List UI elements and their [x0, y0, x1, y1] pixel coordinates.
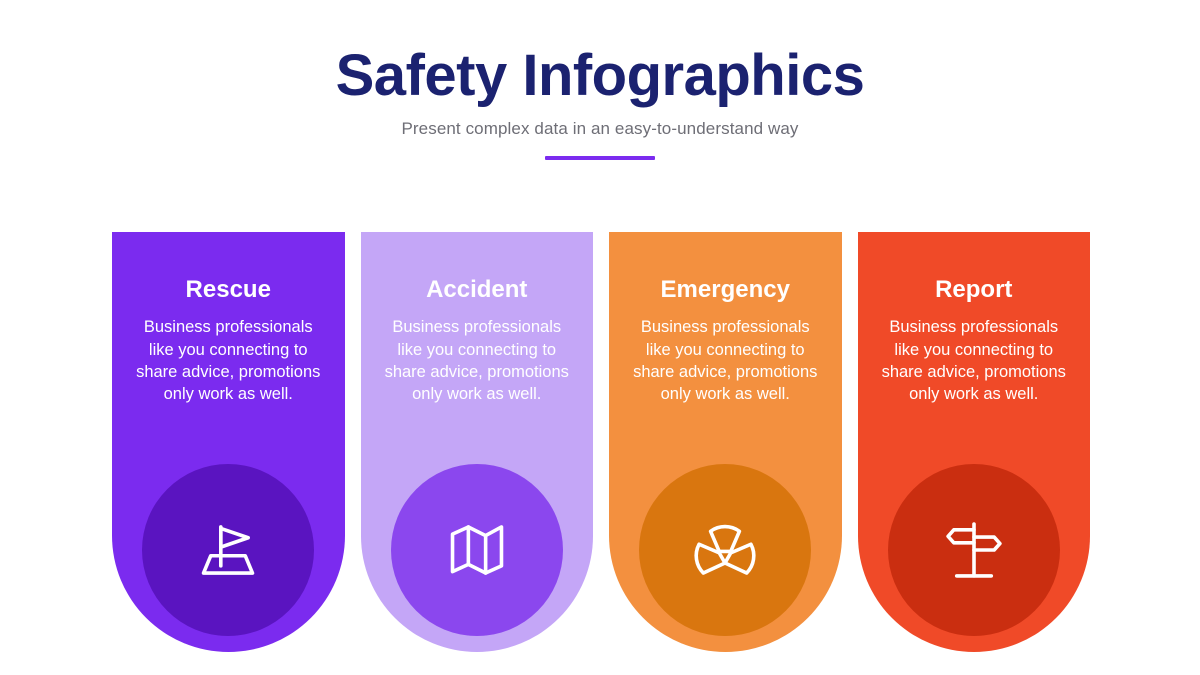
header: Safety Infographics Present complex data…: [0, 44, 1200, 160]
card-report[interactable]: Report Business professionals like you c…: [858, 232, 1091, 652]
cards-row: Rescue Business professionals like you c…: [112, 232, 1090, 652]
card-rescue[interactable]: Rescue Business professionals like you c…: [112, 232, 345, 652]
signpost-icon: [938, 514, 1010, 586]
icon-circle: [142, 464, 314, 636]
folded-map-icon: [441, 514, 513, 586]
card-body-text: Business professionals like you connecti…: [132, 316, 324, 404]
card-emergency[interactable]: Emergency Business professionals like yo…: [609, 232, 842, 652]
card-body-text: Business professionals like you connecti…: [878, 316, 1070, 404]
flag-on-base-icon: [192, 514, 264, 586]
card-title: Accident: [426, 277, 527, 303]
card-body-text: Business professionals like you connecti…: [381, 316, 573, 404]
icon-circle: [391, 464, 563, 636]
infographic-slide: Safety Infographics Present complex data…: [0, 0, 1200, 675]
card-title: Rescue: [186, 277, 271, 303]
card-title: Emergency: [661, 277, 790, 303]
card-accident[interactable]: Accident Business professionals like you…: [361, 232, 594, 652]
page-title: Safety Infographics: [0, 44, 1200, 109]
card-body-text: Business professionals like you connecti…: [629, 316, 821, 404]
icon-circle: [639, 464, 811, 636]
page-subtitle: Present complex data in an easy-to-under…: [0, 119, 1200, 139]
radiation-hazard-icon: [689, 514, 761, 586]
card-title: Report: [935, 277, 1012, 303]
icon-circle: [888, 464, 1060, 636]
accent-divider: [545, 156, 655, 160]
